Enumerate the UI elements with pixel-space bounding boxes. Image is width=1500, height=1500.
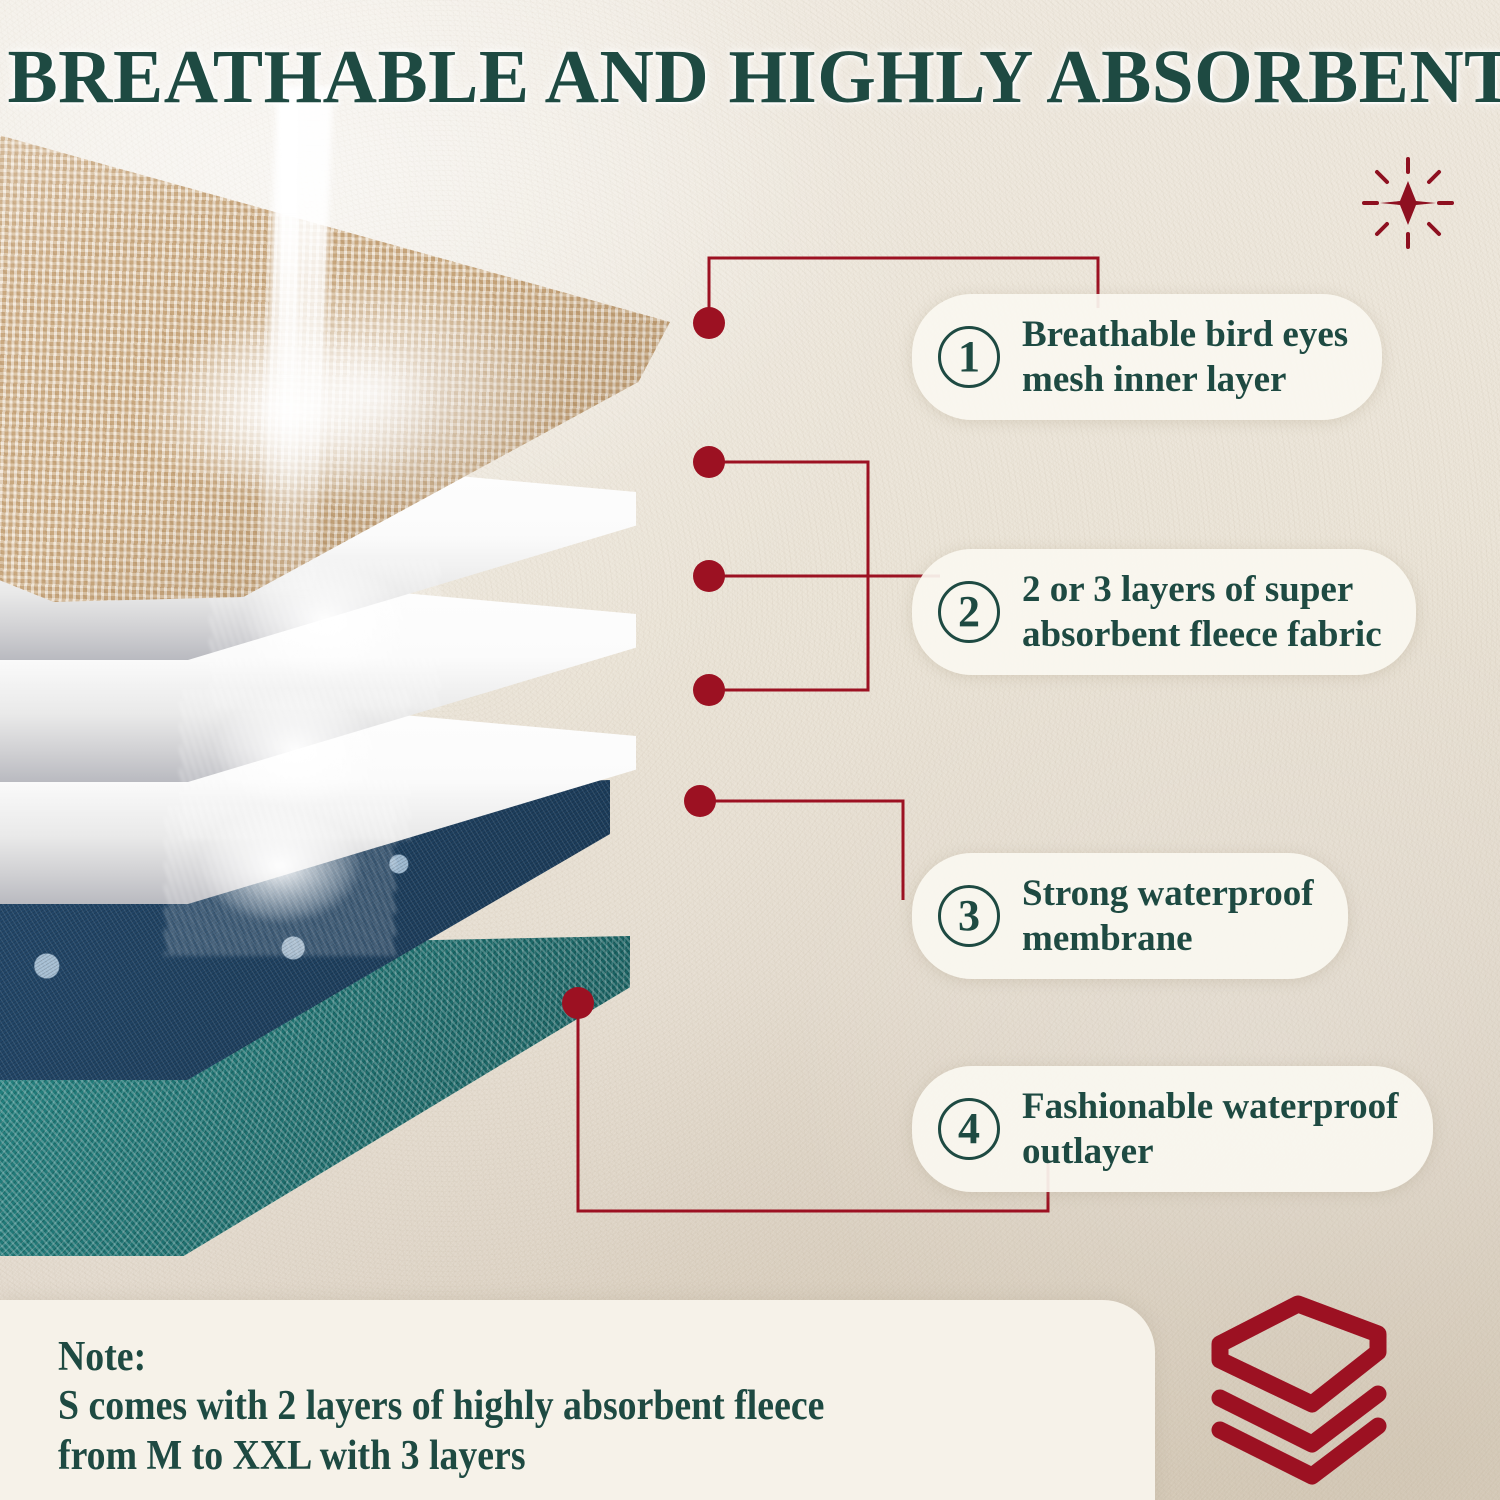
product-layer-stack-image [0,90,830,1210]
callout-waterproof-membrane[interactable]: 3 Strong waterproof membrane [912,853,1348,979]
callout-absorbent-fleece[interactable]: 2 2 or 3 layers of super absorbent fleec… [912,549,1416,675]
note-panel: Note: S comes with 2 layers of highly ab… [0,1300,1155,1500]
note-line-2: from M to XXL with 3 layers [58,1431,1009,1481]
callout-number-3: 3 [938,885,1000,947]
callout-breathable-mesh[interactable]: 1 Breathable bird eyes mesh inner layer [912,294,1382,420]
callout-text-2: 2 or 3 layers of super absorbent fleece … [1022,567,1382,657]
callout-number-1: 1 [938,326,1000,388]
sparkle-icon [1360,155,1456,251]
note-line-1: S comes with 2 layers of highly absorben… [58,1381,1009,1431]
callout-text-1: Breathable bird eyes mesh inner layer [1022,312,1348,402]
callout-number-4: 4 [938,1098,1000,1160]
note-label: Note: [58,1334,1009,1381]
callout-text-3: Strong waterproof membrane [1022,871,1314,961]
water-stream-core [280,98,298,538]
infographic-canvas: BREATHABLE AND HIGHLY ABSORBENT [0,0,1500,1500]
callout-text-4: Fashionable waterproof outlayer [1022,1084,1399,1174]
water-splash-2 [180,690,410,840]
layers-stack-icon [1192,1288,1442,1488]
callout-number-2: 2 [938,581,1000,643]
page-title: BREATHABLE AND HIGHLY ABSORBENT [8,34,1493,121]
callout-waterproof-outlayer[interactable]: 4 Fashionable waterproof outlayer [912,1066,1433,1192]
